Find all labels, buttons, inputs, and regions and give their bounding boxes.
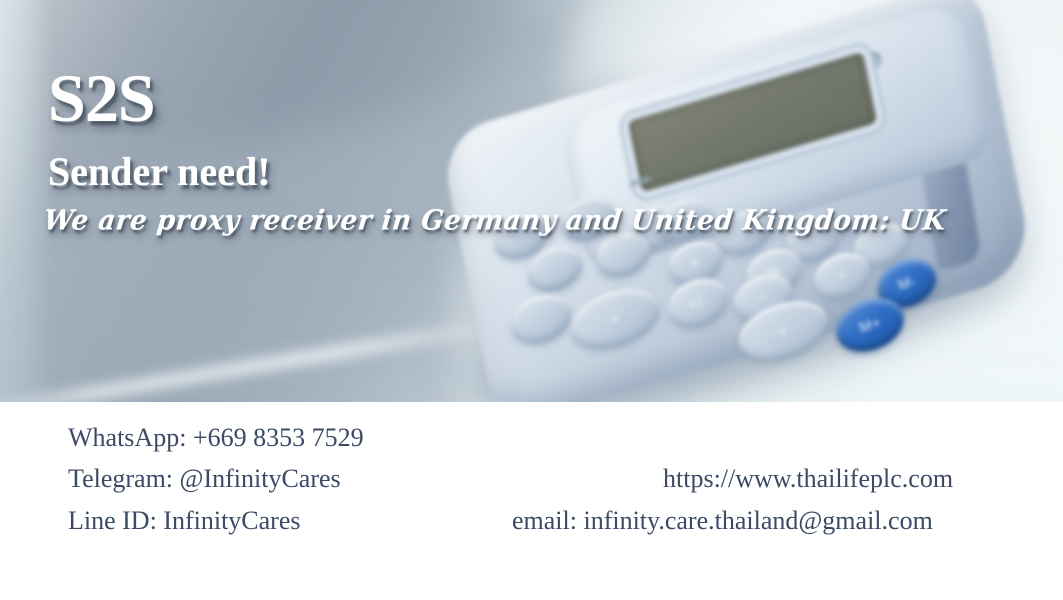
contact-whatsapp[interactable]: WhatsApp: +669 8353 7529 bbox=[68, 423, 364, 453]
subheadline: We are proxy receiver in Germany and Uni… bbox=[43, 207, 948, 235]
brand-title: S2S bbox=[48, 64, 155, 132]
business-card-banner: × % ÷ M- = +/- − + M+ S2S Sender need! W… bbox=[0, 0, 1063, 600]
contact-footer: WhatsApp: +669 8353 7529 Telegram: @Infi… bbox=[0, 402, 1063, 600]
contact-line-id[interactable]: Line ID: InfinityCares bbox=[68, 506, 301, 536]
headline: Sender need! bbox=[48, 152, 271, 192]
hero-banner: × % ÷ M- = +/- − + M+ S2S Sender need! W… bbox=[0, 0, 1063, 402]
contact-email[interactable]: email: infinity.care.thailand@gmail.com bbox=[512, 506, 933, 536]
contact-telegram[interactable]: Telegram: @InfinityCares bbox=[68, 464, 341, 494]
contact-website-link[interactable]: https://www.thailifeplc.com bbox=[663, 464, 953, 494]
